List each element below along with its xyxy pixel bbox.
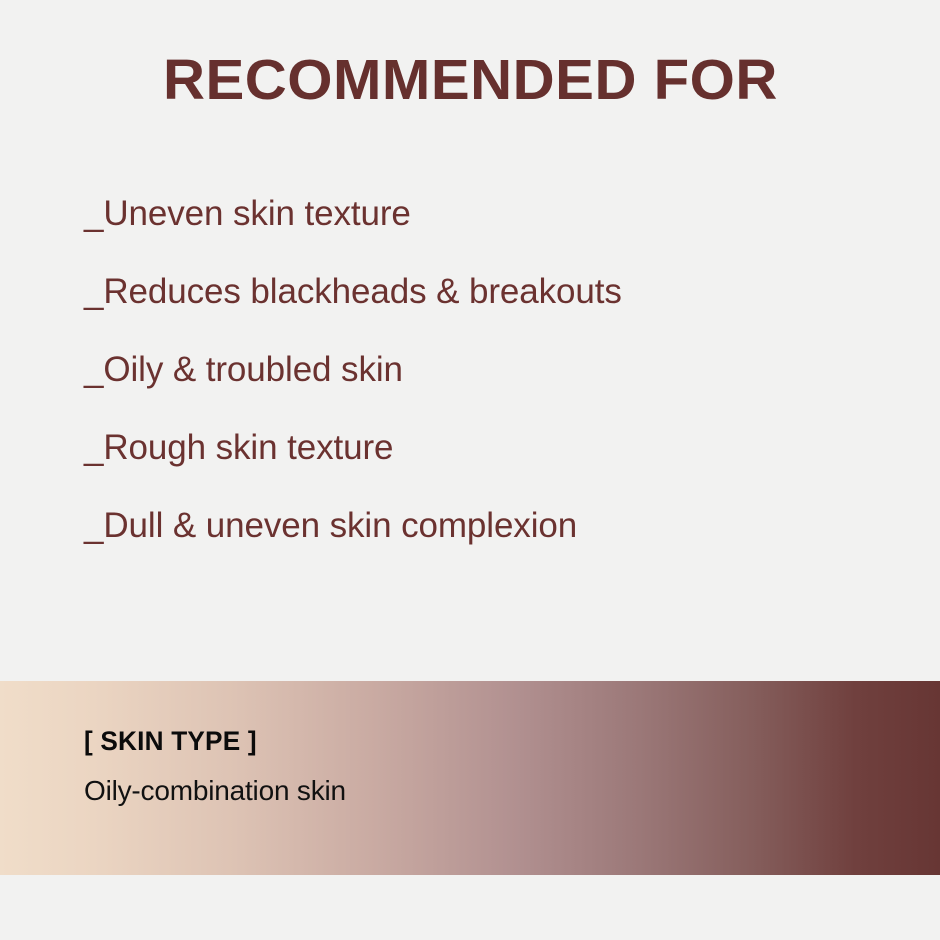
list-item-label: Oily & troubled skin [103, 352, 403, 387]
list-item-label: Reduces blackheads & breakouts [103, 274, 621, 309]
list-item: _Oily & troubled skin [84, 352, 844, 430]
list-item-label: Rough skin texture [103, 430, 393, 465]
underscore-marker-icon: _ [84, 274, 103, 309]
underscore-marker-icon: _ [84, 352, 103, 387]
underscore-marker-icon: _ [84, 196, 103, 231]
list-item: _Uneven skin texture [84, 196, 844, 274]
skin-type-heading: [ SKIN TYPE ] [84, 728, 914, 755]
list-item-content: _Oily & troubled skin [84, 352, 403, 387]
page-title-container: RECOMMENDED FOR [0, 0, 940, 160]
list-item-content: _Rough skin texture [84, 430, 393, 465]
underscore-marker-icon: _ [84, 430, 103, 465]
list-item: _Reduces blackheads & breakouts [84, 274, 844, 352]
skin-type-value: Oily-combination skin [84, 777, 940, 805]
underscore-marker-icon: _ [84, 508, 103, 543]
list-item-content: _Dull & uneven skin complexion [84, 508, 577, 543]
list-item: _Dull & uneven skin complexion [84, 508, 844, 586]
list-item-label: Dull & uneven skin complexion [103, 508, 577, 543]
list-item-content: _Reduces blackheads & breakouts [84, 274, 622, 309]
list-item: _Rough skin texture [84, 430, 844, 508]
page-title: RECOMMENDED FOR [163, 52, 778, 109]
list-item-content: _Uneven skin texture [84, 196, 411, 231]
list-item-label: Uneven skin texture [103, 196, 410, 231]
skin-type-banner: [ SKIN TYPE ] Oily-combination skin [0, 681, 940, 875]
recommended-for-card: RECOMMENDED FOR _Uneven skin texture _Re… [0, 0, 940, 940]
benefits-list: _Uneven skin texture _Reduces blackheads… [84, 196, 844, 586]
